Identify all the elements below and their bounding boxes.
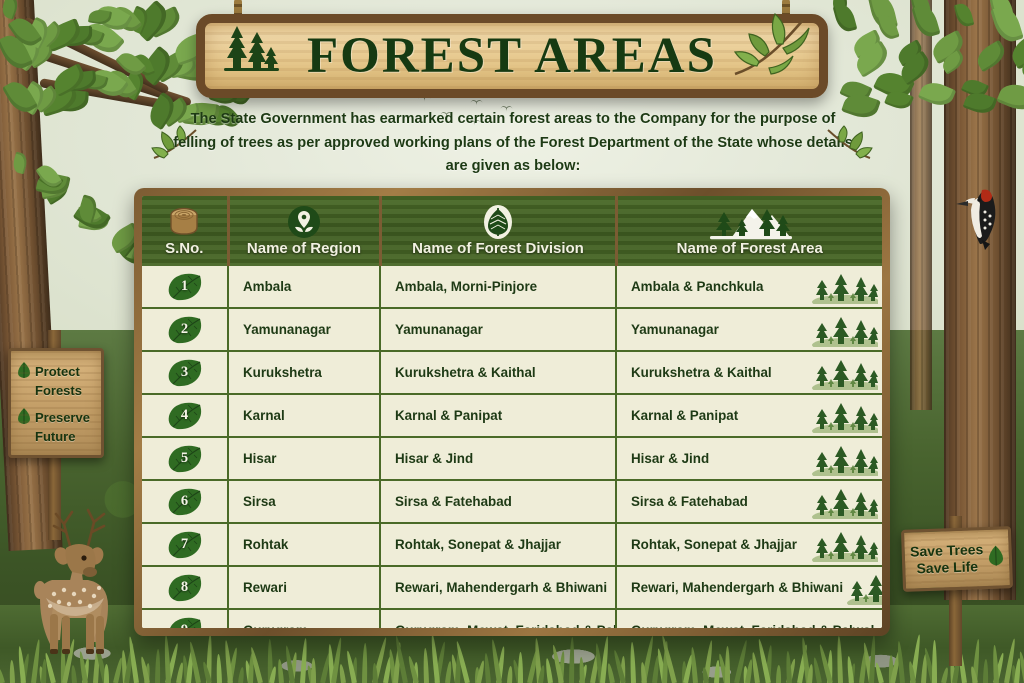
forests-label: Forests: [35, 384, 95, 399]
grass-blade: [690, 647, 698, 683]
grass-blade: [983, 659, 988, 683]
cell-division: Hisar & Jind: [380, 437, 616, 480]
grass-blade: [362, 643, 368, 683]
cell-division: Gurugram, Mewat, Faridabad & Palwal: [380, 609, 616, 636]
cell-area: Sirsa & Fatehabad: [616, 480, 882, 523]
column-header-division-label: Name of Forest Division: [412, 240, 584, 257]
grass-blade: [725, 646, 730, 683]
cell-sno: 7: [142, 523, 228, 566]
grass-blade: [776, 665, 781, 683]
pine-trees-decoration: [843, 567, 882, 605]
forest-areas-table-frame: S.No. Name of Region: [134, 188, 890, 636]
sno-value: 8: [181, 579, 188, 596]
pine-trees-decoration: [843, 567, 882, 608]
grass-blade: [606, 663, 615, 683]
cell-division: Rewari, Mahendergarh & Bhiwani: [380, 566, 616, 609]
pine-trees-decoration: [808, 266, 878, 304]
cell-region: Ambala: [228, 266, 380, 308]
grass-blade: [311, 658, 316, 683]
area-value: Yamunanagar: [631, 322, 719, 337]
grass-blade: [578, 657, 584, 683]
sno-value: 5: [181, 450, 188, 467]
table-row[interactable]: 5 Hisar Hisar & Jind Hisar & Jind: [142, 437, 882, 480]
column-header-sno-label: S.No.: [165, 240, 203, 257]
protect-forests-sign: Protect Forests Preserve Future: [8, 348, 104, 458]
table-row[interactable]: 7 Rohtak Rohtak, Sonepat & Jhajjar Rohta…: [142, 523, 882, 566]
pine-trees-decoration: [808, 438, 878, 476]
grass-blade: [846, 656, 854, 683]
cell-area: Kurukshetra & Kaithal: [616, 351, 882, 394]
cell-division: Rohtak, Sonepat & Jhajjar: [380, 523, 616, 566]
cell-sno: 4: [142, 394, 228, 437]
pine-trees-decoration: [808, 481, 878, 519]
grass-blade: [785, 651, 792, 683]
page-title: FOREST AREAS: [205, 23, 819, 89]
grass-blade: [836, 636, 843, 683]
cell-sno: 9: [142, 609, 228, 636]
cell-division: Yamunanagar: [380, 308, 616, 351]
sno-value: 1: [181, 278, 188, 295]
preserve-label: Preserve: [35, 411, 90, 426]
area-value: Rewari, Mahendergarh & Bhiwani: [631, 580, 843, 595]
sno-value: 7: [181, 536, 188, 553]
area-value: Hisar & Jind: [631, 451, 709, 466]
column-header-area-label: Name of Forest Area: [677, 240, 823, 257]
grass-blade: [992, 645, 999, 683]
pine-trees-decoration: [808, 395, 878, 436]
sno-value: 9: [181, 622, 188, 636]
grass-blade: [751, 652, 760, 683]
sign-line-3-row: Preserve: [17, 407, 95, 430]
sno-value: 4: [181, 407, 188, 424]
cell-sno: 6: [142, 480, 228, 523]
grass-blade: [238, 667, 245, 683]
table-row[interactable]: 9 Gurugram Gurugram, Mewat, Faridabad & …: [142, 609, 882, 636]
tree-log-icon: [142, 204, 227, 240]
grass-blade: [896, 641, 905, 683]
table-header: S.No. Name of Region: [142, 196, 882, 266]
grass-blade: [812, 657, 822, 683]
cell-region: Karnal: [228, 394, 380, 437]
subtitle-text: The State Government has earmarked certa…: [168, 108, 858, 179]
mountains-pines-icon: [618, 204, 883, 240]
leaf-bullet-icon: [17, 361, 31, 384]
location-pin-leaf-icon: [230, 204, 379, 240]
grass-blade: [518, 652, 523, 683]
grass-blade: [507, 666, 513, 683]
sno-value: 2: [181, 321, 188, 338]
cell-region: Rewari: [228, 566, 380, 609]
pine-trees-decoration: [874, 610, 882, 636]
table-header-row: S.No. Name of Region: [142, 196, 882, 266]
cell-area: Rohtak, Sonepat & Jhajjar: [616, 523, 882, 566]
grass-blade: [277, 659, 284, 683]
column-header-area[interactable]: Name of Forest Area: [616, 196, 882, 266]
forest-areas-table: S.No. Name of Region: [142, 196, 882, 636]
pine-trees-decoration: [808, 352, 878, 393]
table-body: 1 Ambala Ambala, Morni-Pinjore Ambala & …: [142, 266, 882, 636]
bird: [470, 100, 483, 107]
pine-trees-decoration: [808, 481, 878, 522]
pine-trees-decoration: [808, 438, 878, 479]
grass-blade: [0, 667, 5, 683]
area-value: Gurugram, Mewat, Faridabad & Palwal: [631, 623, 874, 636]
title-signboard: FOREST AREAS: [196, 14, 828, 98]
table-row[interactable]: 6 Sirsa Sirsa & Fatehabad Sirsa & Fateha…: [142, 480, 882, 523]
table-row[interactable]: 4 Karnal Karnal & Panipat Karnal & Panip…: [142, 394, 882, 437]
protect-label: Protect: [35, 365, 80, 380]
pine-trees-decoration: [808, 309, 878, 347]
cell-region: Gurugram: [228, 609, 380, 636]
leaf-number-badge: 8: [166, 573, 204, 603]
cell-division: Karnal & Panipat: [380, 394, 616, 437]
leaf-number-badge: 6: [166, 487, 204, 517]
future-label: Future: [35, 430, 95, 445]
leaf-number-badge: 3: [166, 358, 204, 388]
table-row[interactable]: 1 Ambala Ambala, Morni-Pinjore Ambala & …: [142, 266, 882, 308]
area-value: Rohtak, Sonepat & Jhajjar: [631, 537, 797, 552]
cell-division: Sirsa & Fatehabad: [380, 480, 616, 523]
leaf-number-badge: 1: [166, 272, 204, 302]
area-value: Karnal & Panipat: [631, 408, 738, 423]
grass-blade: [629, 642, 635, 683]
sign-line-1-row: Protect: [17, 361, 95, 384]
leaf-icon: [987, 544, 1004, 572]
cell-sno: 3: [142, 351, 228, 394]
grass-blade: [874, 662, 884, 683]
table-row[interactable]: 3 Kurukshetra Kurukshetra & Kaithal Kuru…: [142, 351, 882, 394]
pine-trees-decoration: [808, 352, 878, 390]
cell-area: Yamunanagar: [616, 308, 882, 351]
grass-blade: [569, 637, 575, 683]
pine-trees-decoration: [808, 266, 878, 307]
deer-illustration: [24, 506, 128, 661]
grass-blade: [104, 664, 109, 683]
column-header-division[interactable]: Name of Forest Division: [380, 196, 616, 266]
sno-value: 3: [181, 364, 188, 381]
grass-blade: [483, 653, 491, 683]
leaf-number-badge: 7: [166, 530, 204, 560]
leaf-number-badge: 9: [166, 616, 204, 637]
table-row[interactable]: 8 Rewari Rewari, Mahendergarh & Bhiwani …: [142, 566, 882, 609]
cell-region: Rohtak: [228, 523, 380, 566]
cell-region: Sirsa: [228, 480, 380, 523]
cell-sno: 5: [142, 437, 228, 480]
cell-sno: 2: [142, 308, 228, 351]
cell-area: Karnal & Panipat: [616, 394, 882, 437]
grass-blade: [163, 635, 171, 683]
grass-blade: [445, 661, 453, 683]
save-trees-text: Save Trees Save Life: [910, 541, 984, 577]
save-trees-line2: Save Life: [910, 558, 984, 577]
column-header-region[interactable]: Name of Region: [228, 196, 380, 266]
pine-trees-decoration: [808, 524, 878, 562]
grass-blade: [338, 664, 346, 683]
grass-blade: [216, 654, 222, 683]
grass-blade: [545, 658, 553, 683]
area-value: Kurukshetra & Kaithal: [631, 365, 772, 380]
cell-area: Ambala & Panchkula: [616, 266, 882, 308]
leaf-oval-icon: [382, 204, 615, 240]
cell-sno: 1: [142, 266, 228, 308]
woodpecker-illustration: [952, 178, 1004, 255]
column-header-sno[interactable]: S.No.: [142, 196, 228, 266]
grass-blade: [9, 660, 15, 683]
grass-blade: [155, 649, 161, 683]
cell-region: Yamunanagar: [228, 308, 380, 351]
cell-division: Kurukshetra & Kaithal: [380, 351, 616, 394]
area-value: Ambala & Panchkula: [631, 279, 763, 294]
pine-trees-decoration: [808, 309, 878, 350]
cell-division: Ambala, Morni-Pinjore: [380, 266, 616, 308]
grass-blade: [932, 640, 937, 683]
grass-blade: [423, 648, 429, 683]
cell-area: Hisar & Jind: [616, 437, 882, 480]
leaf-number-badge: 4: [166, 401, 204, 431]
grass-blade: [941, 667, 949, 683]
cell-region: Kurukshetra: [228, 351, 380, 394]
grass-blade: [869, 635, 877, 683]
leaf-number-badge: 2: [166, 315, 204, 345]
cell-area: Rewari, Mahendergarh & Bhiwani: [616, 566, 882, 609]
cell-region: Hisar: [228, 437, 380, 480]
grass-blade: [70, 665, 77, 683]
save-trees-sign: Save Trees Save Life: [901, 526, 1013, 592]
leaf-number-badge: 5: [166, 444, 204, 474]
leaf-bullet-icon-2: [17, 407, 31, 430]
area-value: Sirsa & Fatehabad: [631, 494, 748, 509]
cell-area: Gurugram, Mewat, Faridabad & Palwal: [616, 609, 882, 636]
table-row[interactable]: 2 Yamunanagar Yamunanagar Yamunanagar: [142, 308, 882, 351]
pine-trees-decoration: [808, 524, 878, 565]
pine-trees-decoration: [874, 610, 882, 636]
cell-sno: 8: [142, 566, 228, 609]
grass-blade: [300, 638, 308, 683]
sno-value: 6: [181, 493, 188, 510]
decorative-sprig-right: [822, 124, 874, 169]
pine-trees-decoration: [808, 395, 878, 433]
column-header-region-label: Name of Region: [247, 240, 361, 257]
